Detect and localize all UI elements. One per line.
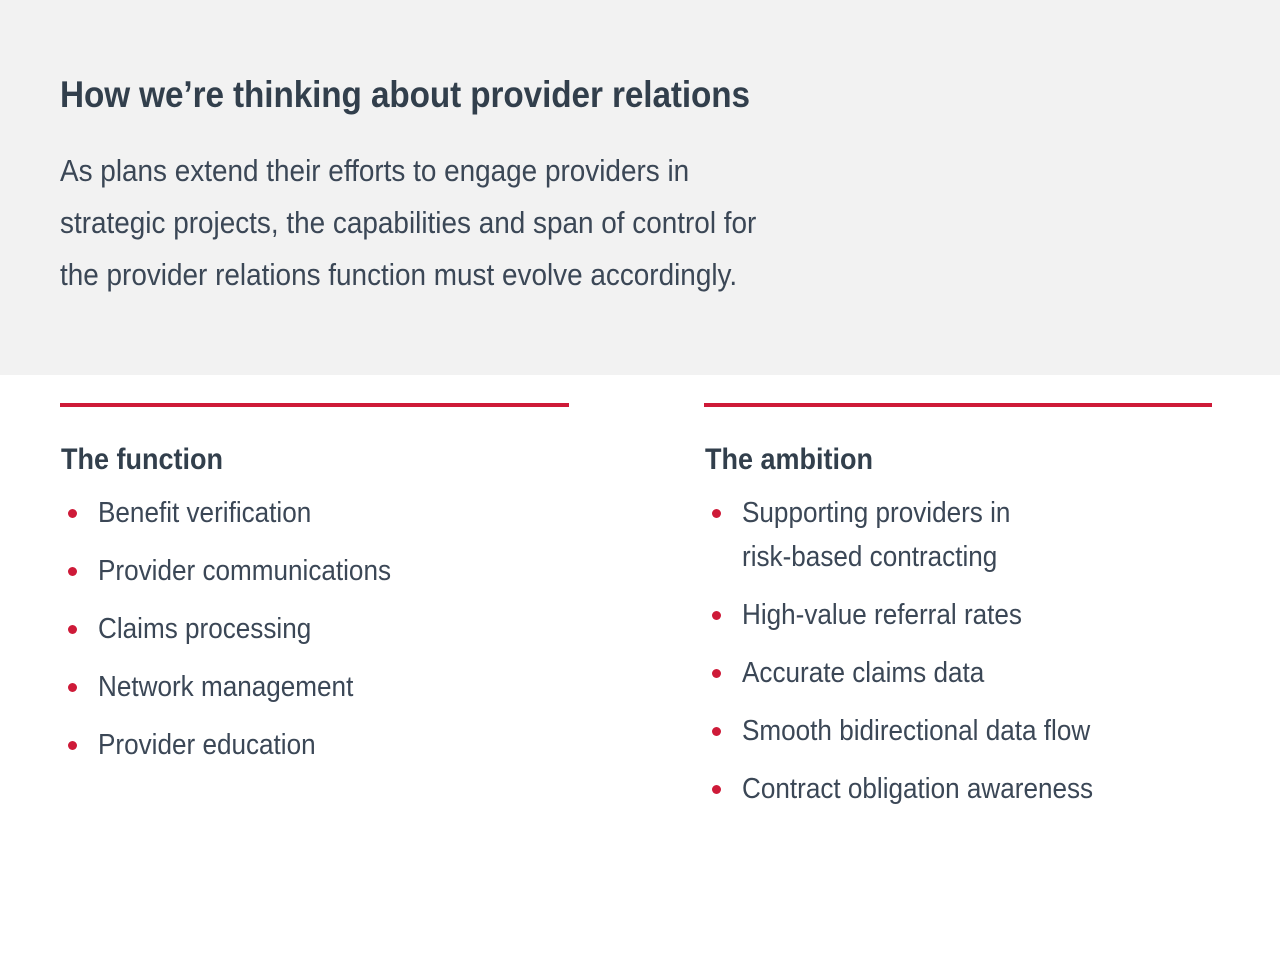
list-item-line: Smooth bidirectional data flow [742, 709, 1093, 753]
list-item-text: Contract obligation awareness [742, 767, 1093, 811]
accent-rule-left [60, 403, 569, 407]
list-item-line: Accurate claims data [742, 651, 1093, 695]
list-item-text: Smooth bidirectional data flow [742, 709, 1093, 753]
list-item: Contract obligation awareness [704, 767, 1132, 811]
list-item-line: Claims processing [98, 607, 391, 651]
list-item: Provider communications [60, 549, 424, 593]
bullet-dot-icon [712, 727, 721, 736]
list-item-line: Supporting providers in [742, 491, 1093, 535]
list-item-text: Claims processing [98, 607, 391, 651]
list-item-text: High-value referral rates [742, 593, 1093, 637]
list-item-text: Network management [98, 665, 391, 709]
bullet-dot-icon [68, 625, 77, 634]
column-heading-the-ambition: The ambition [705, 443, 873, 476]
subtitle-line-1: As plans extend their efforts to engage … [60, 145, 756, 197]
list-item-line: Provider communications [98, 549, 391, 593]
list-item-text: Provider communications [98, 549, 391, 593]
list-item-line: Benefit verification [98, 491, 391, 535]
list-item-text: Supporting providers in risk-based contr… [742, 491, 1093, 579]
list-item-line: Network management [98, 665, 391, 709]
slide-canvas: How we’re thinking about provider relati… [0, 0, 1280, 960]
list-item-line: Contract obligation awareness [742, 767, 1093, 811]
page-subtitle: As plans extend their efforts to engage … [60, 145, 756, 301]
list-item-text: Provider education [98, 723, 391, 767]
page-title: How we’re thinking about provider relati… [60, 74, 750, 115]
bullet-dot-icon [712, 611, 721, 620]
bullet-dot-icon [68, 509, 77, 518]
bullet-dot-icon [712, 509, 721, 518]
columns-region: The function Benefit verification Provid… [0, 375, 1280, 960]
list-item: Smooth bidirectional data flow [704, 709, 1132, 753]
list-item: Claims processing [60, 607, 424, 651]
list-item: Accurate claims data [704, 651, 1132, 695]
list-item: Provider education [60, 723, 424, 767]
bullet-list-the-ambition: Supporting providers in risk-based contr… [704, 491, 1132, 811]
bullet-dot-icon [712, 785, 721, 794]
subtitle-line-3: the provider relations function must evo… [60, 249, 756, 301]
bullet-dot-icon [712, 669, 721, 678]
list-item-text: Benefit verification [98, 491, 391, 535]
list-item-line: risk-based contracting [742, 535, 1093, 579]
list-item-line: High-value referral rates [742, 593, 1093, 637]
bullet-dot-icon [68, 567, 77, 576]
header-band: How we’re thinking about provider relati… [0, 0, 1280, 375]
bullet-dot-icon [68, 683, 77, 692]
list-item: High-value referral rates [704, 593, 1132, 637]
bullet-list-the-function: Benefit verification Provider communicat… [60, 491, 424, 767]
list-item: Supporting providers in risk-based contr… [704, 491, 1132, 579]
bullet-dot-icon [68, 741, 77, 750]
list-item-line: Provider education [98, 723, 391, 767]
column-heading-the-function: The function [61, 443, 223, 476]
list-item: Benefit verification [60, 491, 424, 535]
list-item: Network management [60, 665, 424, 709]
subtitle-line-2: strategic projects, the capabilities and… [60, 197, 756, 249]
list-item-text: Accurate claims data [742, 651, 1093, 695]
accent-rule-right [704, 403, 1212, 407]
